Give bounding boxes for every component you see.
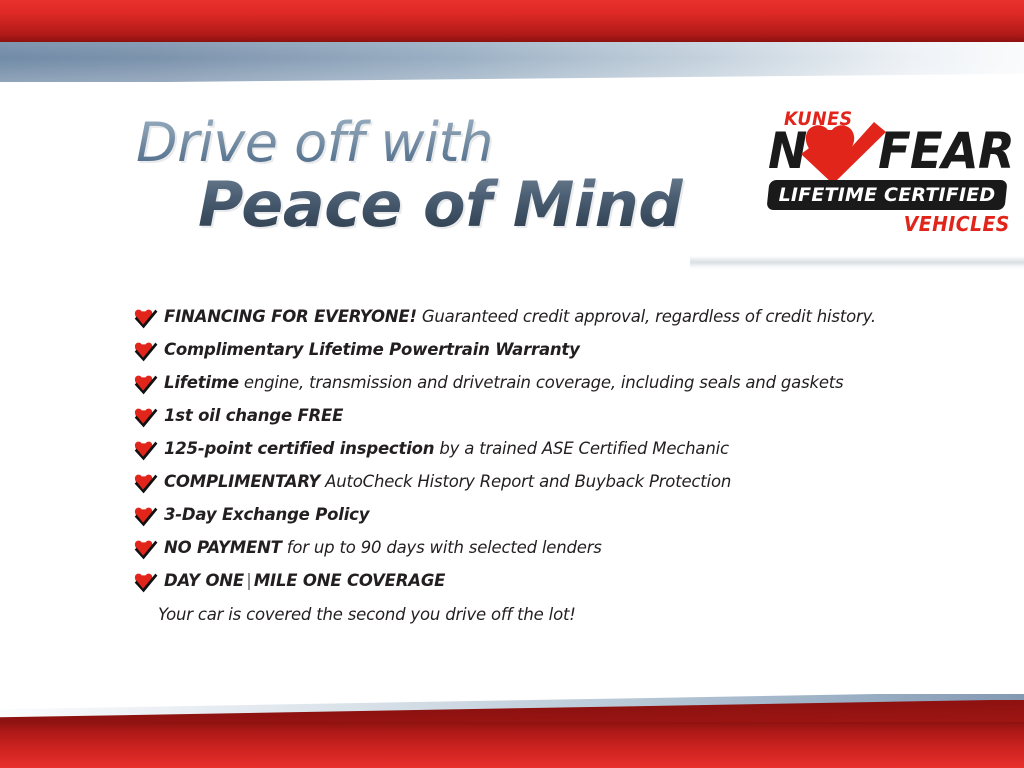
heart-check-bullet-icon: [134, 572, 158, 593]
list-item-emphasis: 3-Day Exchange Policy: [164, 505, 369, 524]
list-item-emphasis: FINANCING FOR EVERYONE!: [164, 307, 417, 326]
logo-certified-bar: LIFETIME CERTIFIED: [766, 180, 1007, 210]
logo-word-fear: FEAR: [878, 126, 1014, 176]
heart-check-bullet-icon: [134, 506, 158, 527]
list-item: Lifetime engine, transmission and drivet…: [134, 372, 934, 395]
heart-check-bullet-icon: [134, 374, 158, 395]
list-item-text: Complimentary Lifetime Powertrain Warran…: [164, 339, 934, 360]
kunes-no-fear-logo: KUNES N FEAR LIFETIME CERTIFIED VEHICLES: [766, 108, 1014, 244]
list-item-text: 3-Day Exchange Policy: [164, 504, 934, 525]
list-item-text: FINANCING FOR EVERYONE! Guaranteed credi…: [164, 306, 934, 327]
bottom-red-band: [0, 722, 1024, 768]
list-item-detail: engine, transmission and drivetrain cove…: [239, 373, 844, 392]
page-title: Drive off with Peace of Mind: [136, 118, 756, 233]
top-red-band: [0, 0, 1024, 42]
heart-check-bullet-icon: [134, 539, 158, 560]
list-item: COMPLIMENTARY AutoCheck History Report a…: [134, 471, 934, 494]
list-item-emphasis: COMPLIMENTARY: [164, 472, 320, 491]
list-item-emphasis: 125-point certified inspection: [164, 439, 434, 458]
list-item-text: NO PAYMENT for up to 90 days with select…: [164, 537, 934, 558]
list-item-separator: |: [244, 571, 254, 590]
list-item-text: Lifetime engine, transmission and drivet…: [164, 372, 934, 393]
list-item-detail: by a trained ASE Certified Mechanic: [434, 439, 729, 458]
logo-wordmark: N FEAR: [766, 126, 1014, 178]
heart-check-icon: [798, 122, 888, 184]
list-item: 1st oil change FREE: [134, 405, 934, 428]
list-item-text: DAY ONE|MILE ONE COVERAGE: [164, 570, 934, 591]
list-item: 125-point certified inspection by a trai…: [134, 438, 934, 461]
list-item-emphasis-a: DAY ONE: [164, 571, 244, 590]
list-item: 3-Day Exchange Policy: [134, 504, 934, 527]
heart-check-bullet-icon: [134, 440, 158, 461]
hero-divider: [690, 256, 1024, 270]
list-item: NO PAYMENT for up to 90 days with select…: [134, 537, 934, 560]
headline-line-2: Peace of Mind: [198, 176, 756, 233]
logo-vehicles-label: VEHICLES: [904, 212, 1010, 236]
list-item-emphasis: 1st oil change FREE: [164, 406, 343, 425]
promo-banner: Drive off with Peace of Mind Drive off w…: [0, 0, 1024, 768]
list-item-subtext: Your car is covered the second you drive…: [158, 603, 934, 626]
heart-check-bullet-icon: [134, 308, 158, 329]
list-item-detail: AutoCheck History Report and Buyback Pro…: [320, 472, 731, 491]
list-item-emphasis: Lifetime: [164, 373, 239, 392]
list-item-text: 1st oil change FREE: [164, 405, 934, 426]
list-item-emphasis: Complimentary Lifetime Powertrain Warran…: [164, 340, 580, 359]
list-item-emphasis-b: MILE ONE COVERAGE: [254, 571, 445, 590]
list-item-text: COMPLIMENTARY AutoCheck History Report a…: [164, 471, 934, 492]
headline-line-1: Drive off with: [136, 118, 756, 168]
list-item: DAY ONE|MILE ONE COVERAGE: [134, 570, 934, 593]
list-item: Complimentary Lifetime Powertrain Warran…: [134, 339, 934, 362]
logo-certified-label: LIFETIME CERTIFIED: [768, 180, 1006, 210]
heart-check-bullet-icon: [134, 341, 158, 362]
feature-list: FINANCING FOR EVERYONE! Guaranteed credi…: [134, 306, 934, 626]
list-item-detail: Guaranteed credit approval, regardless o…: [417, 307, 876, 326]
list-item-emphasis: NO PAYMENT: [164, 538, 282, 557]
list-item-text: 125-point certified inspection by a trai…: [164, 438, 934, 459]
list-item-detail: for up to 90 days with selected lenders: [282, 538, 602, 557]
list-item: FINANCING FOR EVERYONE! Guaranteed credi…: [134, 306, 934, 329]
top-gray-band: [0, 42, 1024, 82]
heart-check-bullet-icon: [134, 407, 158, 428]
heart-check-bullet-icon: [134, 473, 158, 494]
